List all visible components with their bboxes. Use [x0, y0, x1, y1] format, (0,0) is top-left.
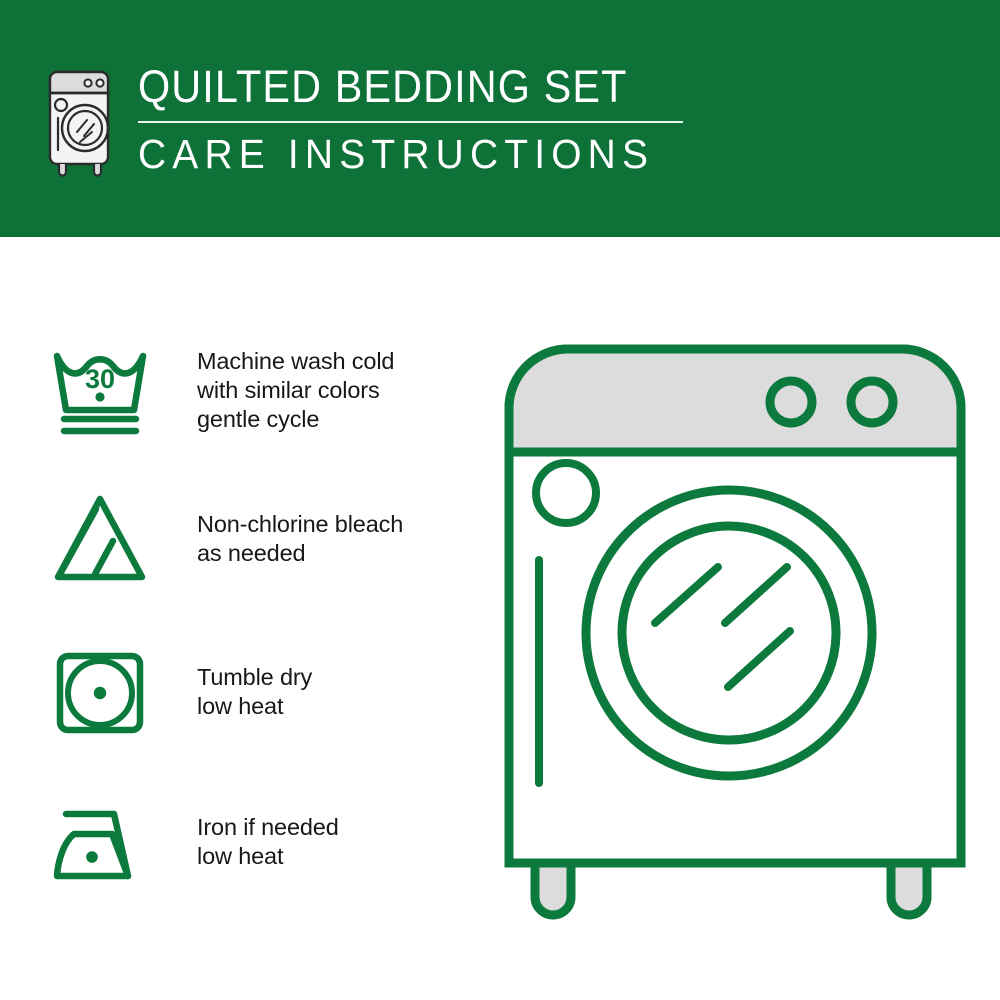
- wash-temperature-label: 30: [85, 364, 115, 394]
- care-row: Tumble dry low heat: [50, 642, 490, 742]
- care-row-label: Tumble dry low heat: [197, 663, 312, 721]
- header-inner: QUILTED BEDDING SET CARE INSTRUCTIONS: [44, 62, 683, 178]
- header-divider: [138, 121, 683, 123]
- front-load-washing-machine-illustration: [495, 335, 975, 935]
- bleach-triangle-icon: [50, 489, 150, 589]
- washing-machine-icon: [44, 66, 116, 178]
- wash-tub-30-icon: 30: [50, 340, 150, 440]
- care-row: 30 Machine wash cold with similar colors…: [50, 340, 490, 440]
- care-row-label: Machine wash cold with similar colors ge…: [197, 347, 394, 434]
- knob-left[interactable]: [770, 381, 812, 423]
- foot-left: [535, 863, 571, 915]
- indicator-circle: [536, 463, 596, 523]
- care-row: Non-chlorine bleach as needed: [50, 489, 490, 589]
- low-heat-dot: [94, 687, 106, 699]
- care-instructions-infographic: QUILTED BEDDING SET CARE INSTRUCTIONS 30: [0, 0, 1000, 1000]
- low-heat-dot: [86, 851, 98, 863]
- knob-right[interactable]: [851, 381, 893, 423]
- header-band: QUILTED BEDDING SET CARE INSTRUCTIONS: [0, 0, 1000, 237]
- care-row-label: Non-chlorine bleach as needed: [197, 510, 403, 568]
- tumble-dry-low-icon: [50, 642, 150, 742]
- door-inner-ring: [622, 526, 836, 740]
- page-subtitle: CARE INSTRUCTIONS: [138, 131, 654, 177]
- care-row: Iron if needed low heat: [50, 792, 490, 892]
- care-row-label: Iron if needed low heat: [197, 813, 339, 871]
- page-title: QUILTED BEDDING SET: [138, 62, 627, 112]
- gentle-cycle-dot: [95, 392, 104, 401]
- iron-low-heat-icon: [50, 792, 150, 892]
- header-text-block: QUILTED BEDDING SET CARE INSTRUCTIONS: [138, 62, 683, 177]
- foot-right: [891, 863, 927, 915]
- care-instruction-list: 30 Machine wash cold with similar colors…: [0, 237, 500, 1000]
